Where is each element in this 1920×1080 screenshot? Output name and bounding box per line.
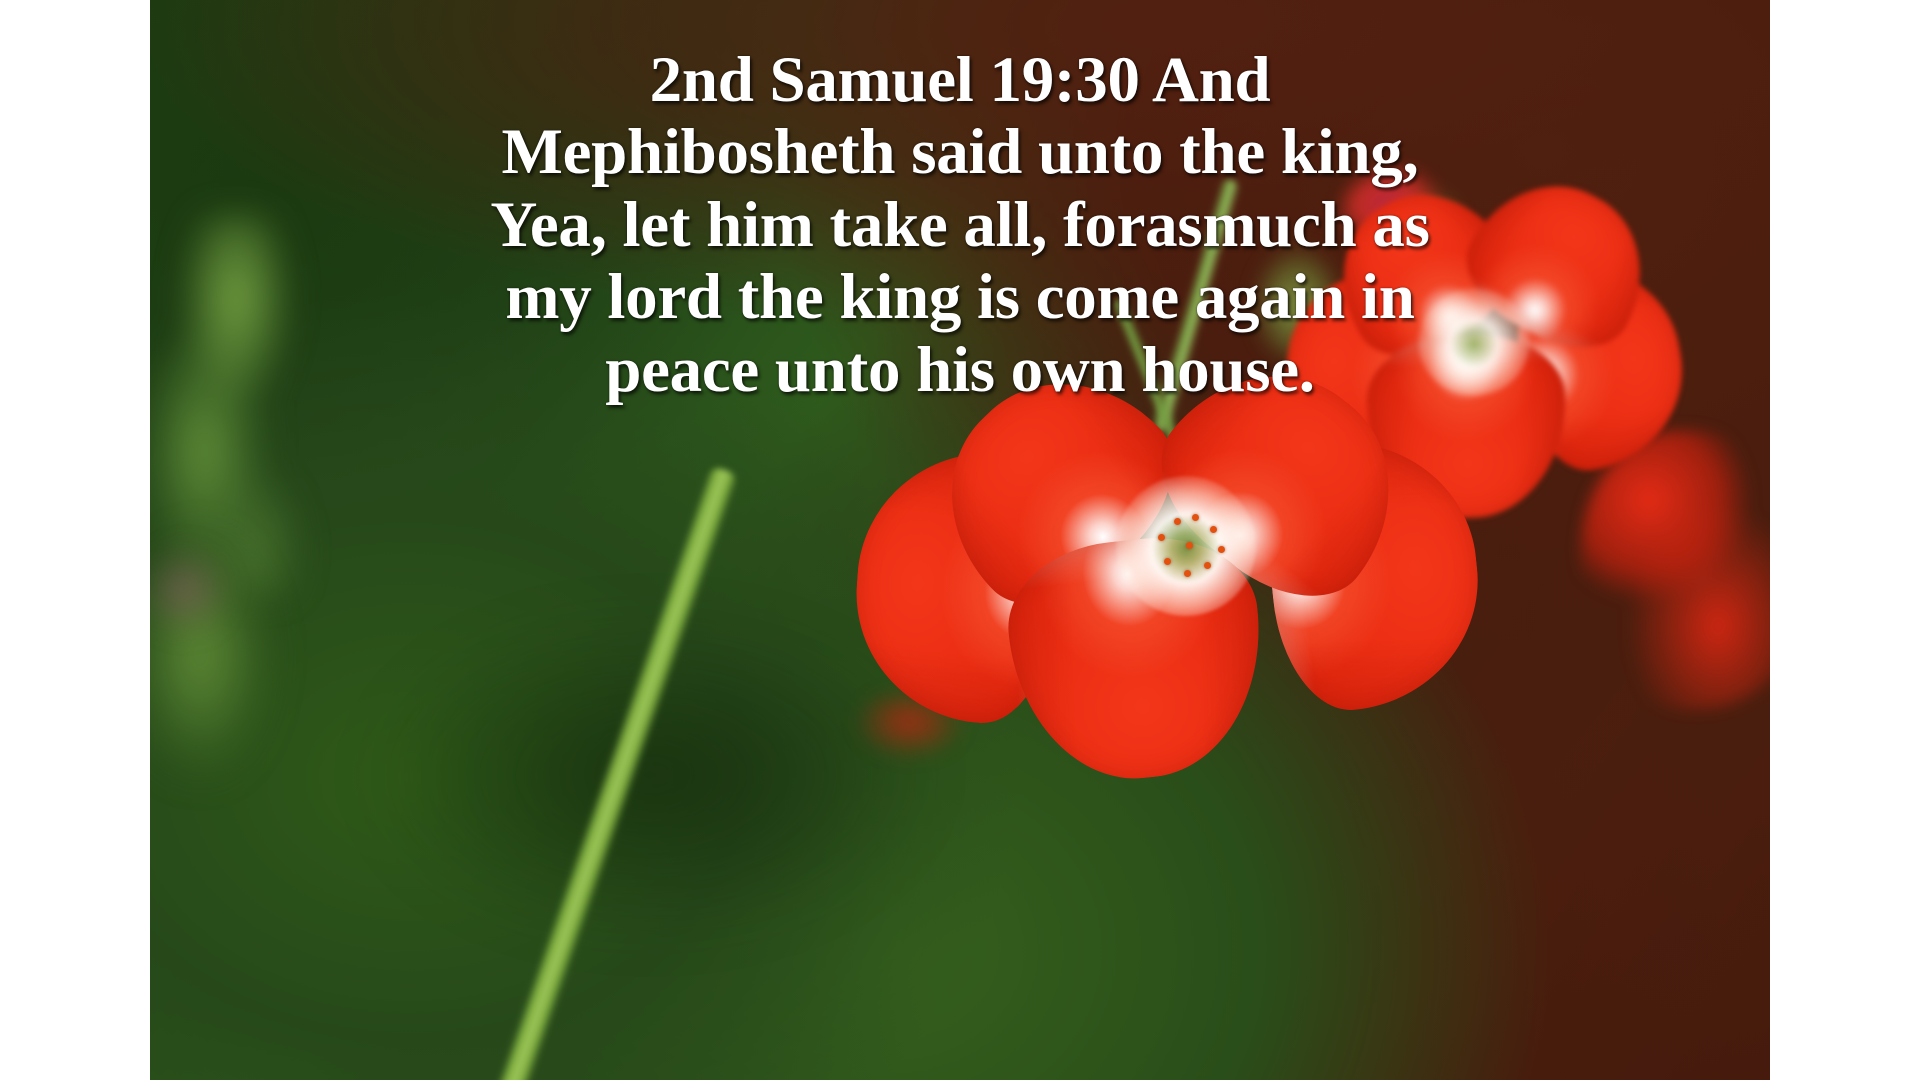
page-canvas: 2nd Samuel 19:30 And Mephibosheth said u… bbox=[0, 0, 1920, 1080]
verse-photo-card: 2nd Samuel 19:30 And Mephibosheth said u… bbox=[150, 0, 1770, 1080]
verse-text: 2nd Samuel 19:30 And Mephibosheth said u… bbox=[150, 0, 1770, 406]
blurred-pink-bloom bbox=[150, 545, 230, 635]
flower-stamens bbox=[1152, 512, 1226, 582]
